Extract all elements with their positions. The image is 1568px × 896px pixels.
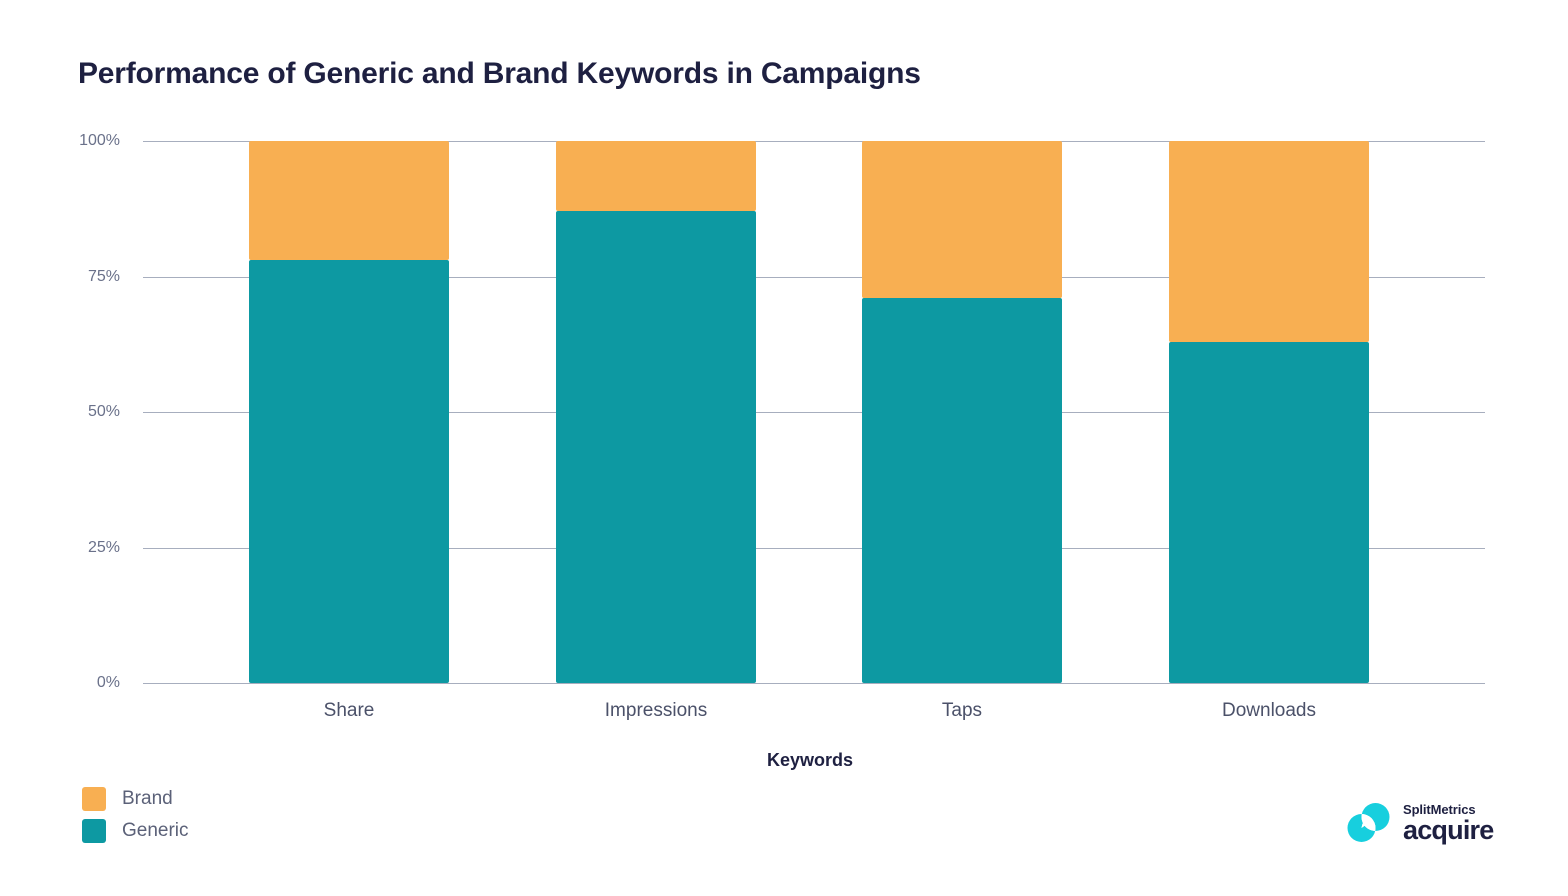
bar-group-share[interactable]: [249, 141, 449, 683]
page-title: Performance of Generic and Brand Keyword…: [78, 57, 921, 91]
logo-top-text: SplitMetrics: [1403, 803, 1493, 816]
x-axis-label-impressions: Impressions: [556, 700, 756, 722]
bar-segment-brand[interactable]: [249, 141, 449, 260]
bar-segment-brand[interactable]: [862, 141, 1062, 298]
legend-item-label: Generic: [122, 820, 189, 842]
y-axis-tick-label: 25%: [40, 539, 120, 557]
bar-group-impressions[interactable]: [556, 141, 756, 683]
splitmetrics-acquire-logo: SplitMetrics acquire: [1344, 800, 1493, 846]
y-axis-tick-label: 50%: [40, 403, 120, 421]
logo-wordmark: SplitMetrics acquire: [1403, 803, 1493, 844]
bar-segment-generic[interactable]: [862, 298, 1062, 683]
legend-swatch-brand: [82, 787, 106, 811]
x-axis-title: Keywords: [0, 750, 1568, 771]
y-axis-tick-label: 75%: [40, 268, 120, 286]
gridline: [143, 683, 1485, 684]
plot-area: [143, 141, 1485, 683]
x-axis-label-taps: Taps: [862, 700, 1062, 722]
x-axis-label-share: Share: [249, 700, 449, 722]
legend-item-generic[interactable]: Generic: [82, 819, 189, 843]
y-axis-tick-label: 0%: [40, 674, 120, 692]
bar-segment-generic[interactable]: [249, 260, 449, 683]
bar-segment-brand[interactable]: [556, 141, 756, 211]
two-overlapping-circles-icon: [1344, 800, 1394, 846]
bar-segment-generic[interactable]: [556, 211, 756, 683]
legend-item-brand[interactable]: Brand: [82, 787, 189, 811]
x-axis-title-text: Keywords: [767, 750, 853, 771]
bar-group-downloads[interactable]: [1169, 141, 1369, 683]
chart-page: Performance of Generic and Brand Keyword…: [0, 0, 1568, 896]
chart-legend: BrandGeneric: [82, 787, 189, 851]
y-axis-tick-label: 100%: [40, 132, 120, 150]
logo-bottom-text: acquire: [1403, 817, 1493, 844]
bar-segment-generic[interactable]: [1169, 342, 1369, 683]
bar-group-taps[interactable]: [862, 141, 1062, 683]
bar-segment-brand[interactable]: [1169, 141, 1369, 342]
x-axis-label-downloads: Downloads: [1169, 700, 1369, 722]
legend-item-label: Brand: [122, 788, 173, 810]
legend-swatch-generic: [82, 819, 106, 843]
